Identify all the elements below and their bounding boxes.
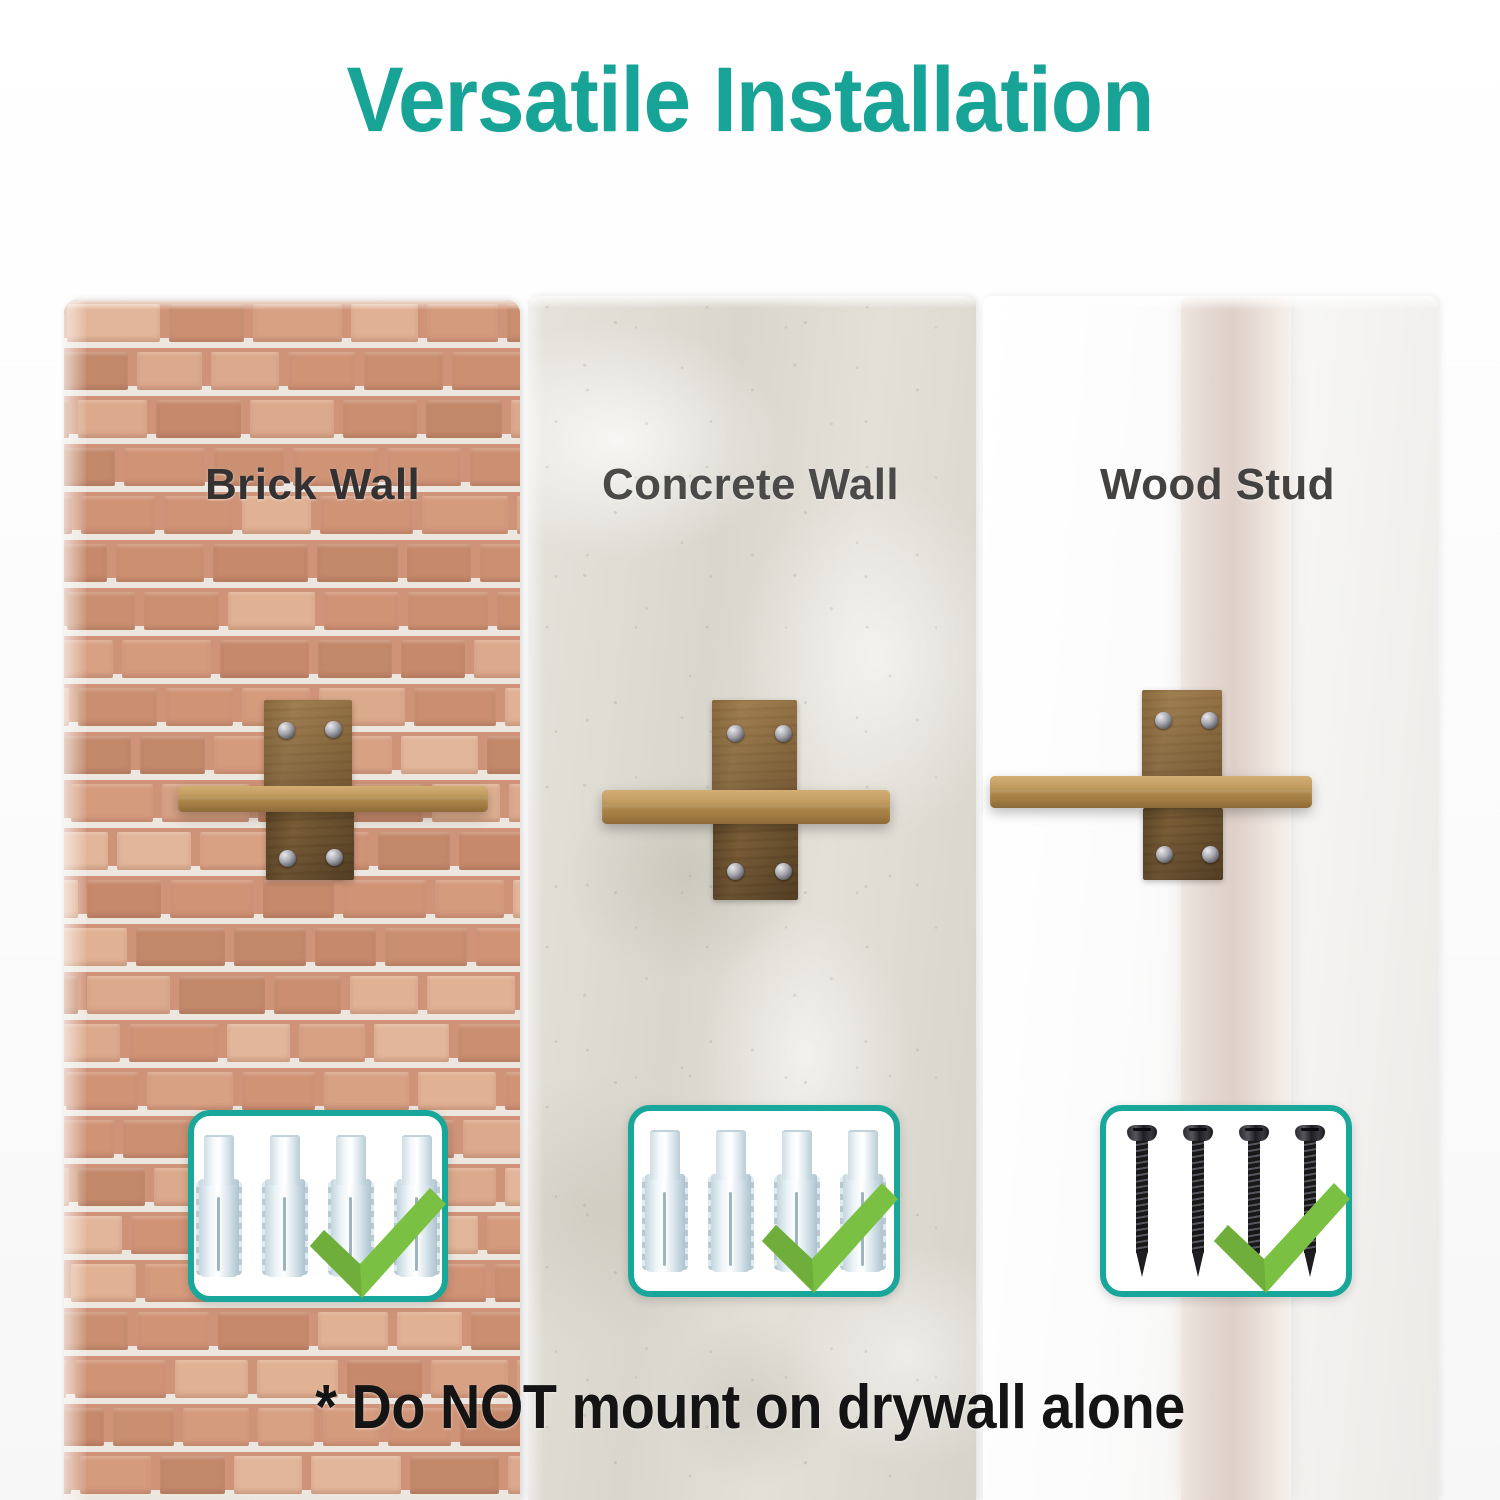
brick-unit [213,544,308,582]
mount-screw-head [1202,846,1219,863]
brick-unit [458,1024,520,1062]
shelf-front-edge [178,797,488,812]
brick-course [64,1072,520,1110]
brick-unit [476,928,520,966]
brick-unit [160,1456,226,1494]
screw-tip [1248,1251,1260,1277]
floating-shelf-board [178,786,488,812]
brick-unit [81,496,155,534]
shelf-assembly-brick [178,700,498,880]
brick-top-edge [64,300,520,310]
shelf-front-edge [602,805,890,824]
brick-unit [234,928,305,966]
anchor-collar [402,1135,432,1185]
brick-unit [87,976,170,1014]
plastic-wall-anchor-icon [711,1130,751,1272]
anchor-slot [795,1192,798,1266]
brick-course [64,880,520,918]
brick-unit [228,592,315,630]
brick-unit [317,544,398,582]
wall-mount-backplate-upper [1142,690,1222,788]
black-wood-screw-icon [1127,1125,1157,1277]
brick-unit [505,1168,520,1206]
brick-unit [401,640,465,678]
anchor-collar [782,1130,812,1180]
brick-unit [474,640,520,678]
brick-unit [78,688,157,726]
screw-tip [1192,1251,1204,1277]
brick-unit [505,1072,520,1110]
brick-unit [288,352,355,390]
mount-screw-head [326,849,343,866]
brick-unit [410,1456,500,1494]
brick-unit [242,1072,315,1110]
brick-unit [116,544,204,582]
floating-shelf-board [602,790,890,824]
mount-screw-head [325,721,342,738]
label-brick-wall: Brick Wall [205,460,420,510]
screw-head [1183,1125,1213,1141]
hardware-box-concrete-anchors[interactable] [628,1105,900,1297]
screw-tip [1136,1251,1148,1277]
anchor-group-concrete [634,1111,894,1291]
screw-head [1127,1125,1157,1141]
brick-course [64,1456,520,1494]
plastic-wall-anchor-icon [777,1130,817,1272]
brick-unit [137,1312,210,1350]
black-wood-screw-icon [1239,1125,1269,1277]
brick-unit [122,640,211,678]
brick-unit [179,976,265,1014]
brick-course [64,976,520,1014]
brick-unit [80,1456,151,1494]
brick-unit [124,448,205,486]
screw-tip [1304,1251,1316,1277]
brick-unit [452,352,520,390]
anchor-slot [217,1197,220,1271]
anchor-group-brick [194,1116,442,1296]
mount-screw-head [775,863,792,880]
label-wood-stud: Wood Stud [1100,460,1335,510]
plastic-wall-anchor-icon [645,1130,685,1272]
brick-course [64,592,520,630]
brick-unit [497,592,520,630]
wall-mount-backplate-lower [1143,808,1223,880]
plastic-wall-anchor-icon [265,1135,305,1277]
brick-unit [315,928,377,966]
brick-unit [511,400,520,438]
brick-unit [170,880,255,918]
brick-unit [274,976,341,1014]
brick-unit [435,880,504,918]
brick-unit [471,1312,520,1350]
brick-unit [299,1024,365,1062]
brick-unit [220,640,309,678]
brick-course [64,1312,520,1350]
anchor-collar [650,1130,680,1180]
brick-unit [129,1024,218,1062]
brick-unit [311,1456,401,1494]
brick-course [64,928,520,966]
screw-shank [1304,1138,1316,1253]
screw-group-wood-stud [1106,1111,1346,1291]
plastic-wall-anchor-icon [331,1135,371,1277]
brick-unit [470,448,520,486]
mount-screw-head [1156,846,1173,863]
wall-mount-backplate-lower [266,810,354,880]
shelf-top-face [990,776,1312,790]
anchor-collar [716,1130,746,1180]
brick-unit [218,1312,308,1350]
brick-unit [263,880,334,918]
brick-unit [508,1456,520,1494]
brick-unit [318,640,392,678]
brick-unit [374,1024,449,1062]
brick-unit [407,544,471,582]
brick-course [64,640,520,678]
brick-course [64,352,520,390]
brick-unit [137,352,202,390]
mount-screw-head [279,850,296,867]
brick-unit [87,880,161,918]
screw-head [1295,1125,1325,1141]
brick-unit [234,1456,301,1494]
anchor-collar [848,1130,878,1180]
brick-unit [509,784,520,822]
mount-screw-head [727,863,744,880]
brick-unit [147,1072,233,1110]
brick-unit [78,1168,145,1206]
brick-left-edge [64,300,86,1500]
brick-unit [227,1024,290,1062]
anchor-slot [349,1197,352,1271]
screw-shank [1136,1138,1148,1253]
anchor-collar [270,1135,300,1185]
brick-unit [343,880,426,918]
brick-unit [343,400,418,438]
black-wood-screw-icon [1183,1125,1213,1277]
brick-unit [487,1216,520,1254]
wall-mount-backplate-upper [264,700,352,792]
plastic-wall-anchor-icon [199,1135,239,1277]
brick-unit [463,1120,520,1158]
hardware-box-brick-anchors[interactable] [188,1110,448,1302]
screw-shank [1192,1138,1204,1253]
brick-unit [364,352,444,390]
brick-unit [513,880,520,918]
page-title: Versatile Installation [53,48,1448,153]
wall-mount-backplate-lower [713,822,798,900]
anchor-collar [204,1135,234,1185]
brick-course [64,1024,520,1062]
brick-unit [422,496,508,534]
brick-unit [250,400,334,438]
brick-unit [211,352,279,390]
brick-unit [324,592,399,630]
shelf-assembly-wood-stud [990,690,1320,880]
brick-unit [426,400,502,438]
hardware-box-wood-screws[interactable] [1100,1105,1352,1297]
anchor-slot [415,1197,418,1271]
screw-head [1239,1125,1269,1141]
plastic-wall-anchor-icon [397,1135,437,1277]
brick-unit [123,1120,190,1158]
brick-course [64,544,520,582]
brick-unit [397,1312,463,1350]
anchor-collar [336,1135,366,1185]
mount-screw-head [1201,712,1218,729]
brick-unit [385,928,467,966]
brick-unit [156,400,241,438]
anchor-slot [663,1192,666,1266]
mount-screw-head [775,725,792,742]
plastic-wall-anchor-icon [843,1130,883,1272]
brick-unit [495,1264,520,1302]
anchor-slot [729,1192,732,1266]
brick-unit [136,928,225,966]
brick-unit [427,976,515,1014]
concrete-left-edge [528,296,544,1500]
shelf-top-face [178,786,488,797]
brick-unit [78,400,146,438]
anchor-slot [861,1192,864,1266]
brick-unit [318,1312,388,1350]
brick-unit [517,496,520,534]
brick-unit [408,592,488,630]
screw-shank [1248,1138,1260,1253]
black-wood-screw-icon [1295,1125,1325,1277]
brick-course [64,400,520,438]
mount-screw-head [727,725,744,742]
concrete-top-edge [528,296,976,308]
brick-unit [144,592,219,630]
mount-screw-head [1155,712,1172,729]
shelf-top-face [602,790,890,805]
shelf-assembly-concrete [600,700,900,900]
floating-shelf-board [990,776,1312,808]
brick-unit [324,1072,409,1110]
warning-text: * Do NOT mount on drywall alone [75,1372,1425,1443]
brick-unit [350,976,418,1014]
shelf-front-edge [990,790,1312,808]
label-concrete-wall: Concrete Wall [602,460,899,510]
wall-mount-backplate-upper [712,700,797,800]
stud-top-edge [983,296,1438,310]
mount-screw-head [278,722,295,739]
infographic-canvas: Versatile Installation Brick Wall Concre… [0,0,1500,1500]
anchor-slot [283,1197,286,1271]
brick-unit [505,688,520,726]
brick-unit [131,1216,189,1254]
brick-unit [480,544,520,582]
brick-unit [418,1072,496,1110]
